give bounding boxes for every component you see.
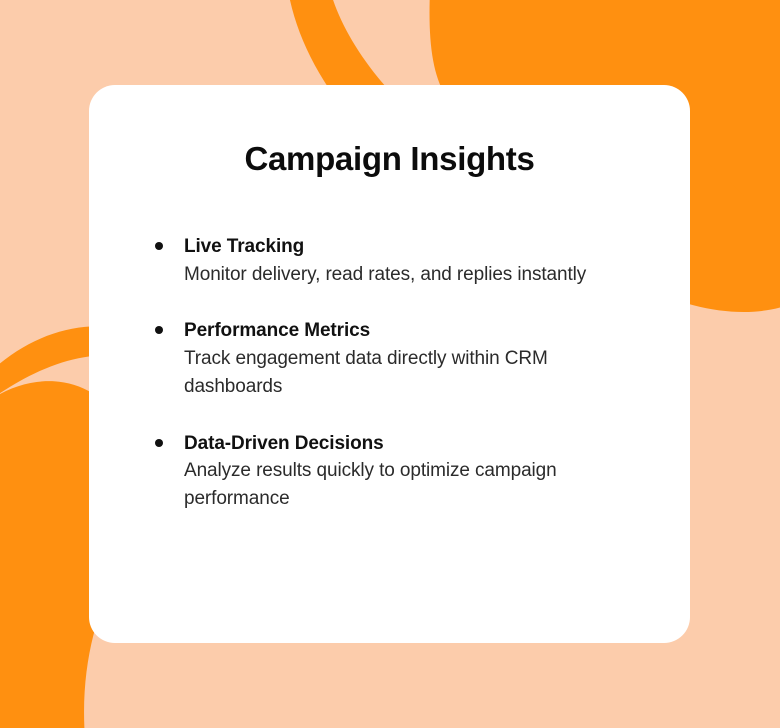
bullet-icon bbox=[155, 326, 163, 334]
feature-list: Live Tracking Monitor delivery, read rat… bbox=[153, 233, 673, 513]
page-title: Campaign Insights bbox=[89, 140, 690, 178]
feature-title: Data-Driven Decisions bbox=[184, 430, 673, 458]
bullet-icon bbox=[155, 242, 163, 250]
list-item: Performance Metrics Track engagement dat… bbox=[153, 317, 673, 400]
feature-title: Live Tracking bbox=[184, 233, 673, 261]
feature-title: Performance Metrics bbox=[184, 317, 673, 345]
content-card: Campaign Insights Live Tracking Monitor … bbox=[89, 85, 690, 643]
list-item: Data-Driven Decisions Analyze results qu… bbox=[153, 430, 673, 513]
slide-canvas: Campaign Insights Live Tracking Monitor … bbox=[0, 0, 780, 728]
feature-description: Track engagement data directly within CR… bbox=[184, 345, 614, 401]
list-item: Live Tracking Monitor delivery, read rat… bbox=[153, 233, 673, 288]
feature-description: Analyze results quickly to optimize camp… bbox=[184, 457, 614, 513]
bullet-icon bbox=[155, 439, 163, 447]
feature-description: Monitor delivery, read rates, and replie… bbox=[184, 261, 614, 289]
